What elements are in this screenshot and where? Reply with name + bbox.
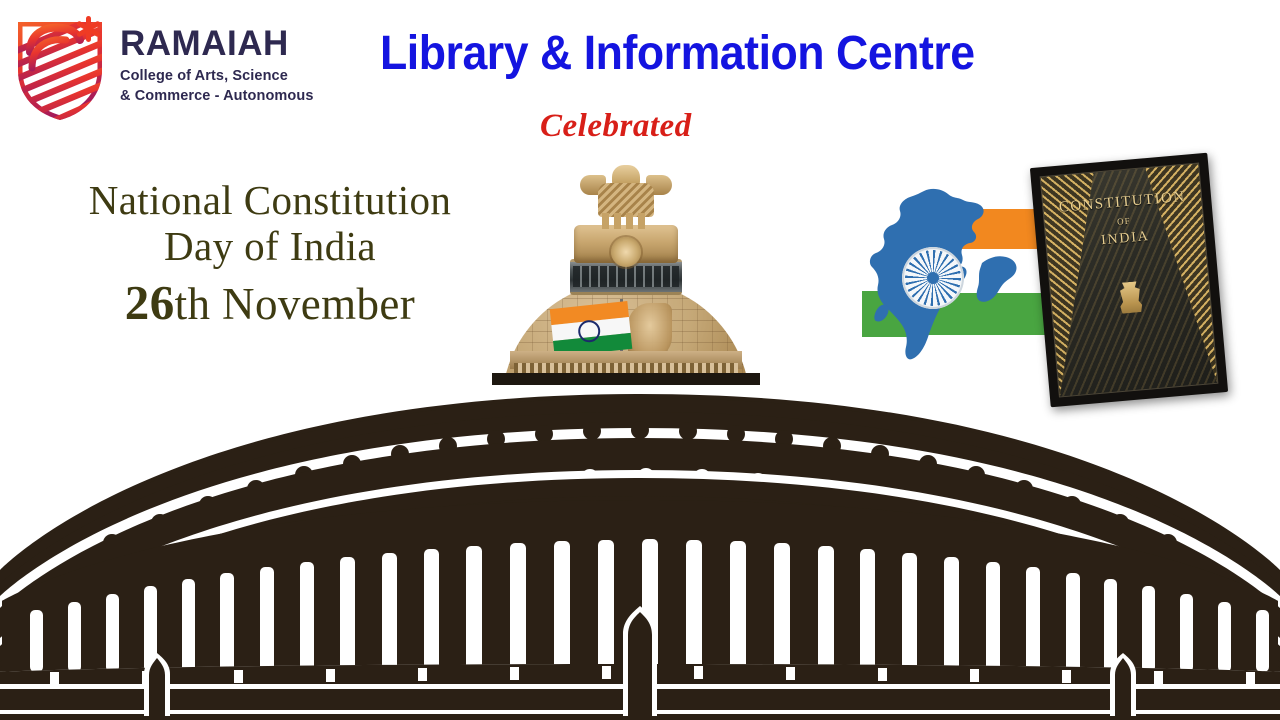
ramaiah-shield-logo-icon bbox=[10, 12, 118, 124]
headline-day-number: 26 bbox=[125, 275, 175, 330]
sansad-bhavan-silhouette bbox=[0, 372, 1280, 720]
page-title: Library & Information Centre bbox=[380, 26, 1143, 81]
headline-line-1: National Constitution bbox=[10, 178, 530, 224]
logo-wordmark: RAMAIAH College of Arts, Science & Comme… bbox=[120, 26, 360, 106]
constitution-of-india-book: CONSTITUTION OF INDIA bbox=[1030, 153, 1228, 408]
map-ashoka-chakra-icon bbox=[902, 247, 964, 309]
celebrated-label: Celebrated bbox=[540, 108, 692, 145]
headline-day-suffix: th November bbox=[175, 279, 416, 329]
ashoka-lion-capital-icon bbox=[574, 165, 678, 231]
headline-date: 26th November bbox=[10, 276, 530, 331]
logo-subtitle-line1: College of Arts, Science bbox=[120, 68, 288, 84]
institution-logo: RAMAIAH College of Arts, Science & Comme… bbox=[8, 8, 358, 126]
poster-canvas: RAMAIAH College of Arts, Science & Comme… bbox=[0, 0, 1280, 720]
book-cover: CONSTITUTION OF INDIA bbox=[1040, 162, 1219, 397]
indian-tricolour-flag-icon bbox=[550, 301, 633, 357]
event-headline: National Constitution Day of India 26th … bbox=[10, 178, 530, 331]
lion-legs bbox=[602, 213, 650, 229]
chakra-hub bbox=[927, 272, 939, 284]
logo-brand-name: RAMAIAH bbox=[120, 26, 360, 61]
india-map-with-tricolour bbox=[862, 185, 1058, 365]
book-state-emblem-icon bbox=[1116, 281, 1145, 319]
vidhana-soudha-dome-photo bbox=[492, 163, 760, 385]
lion-body bbox=[598, 183, 654, 217]
logo-subtitle: College of Arts, Science & Commerce - Au… bbox=[120, 66, 360, 106]
logo-subtitle-line2: & Commerce - Autonomous bbox=[120, 88, 314, 104]
headline-line-2: Day of India bbox=[10, 224, 530, 270]
pedestal-chakra-disc bbox=[611, 237, 641, 267]
